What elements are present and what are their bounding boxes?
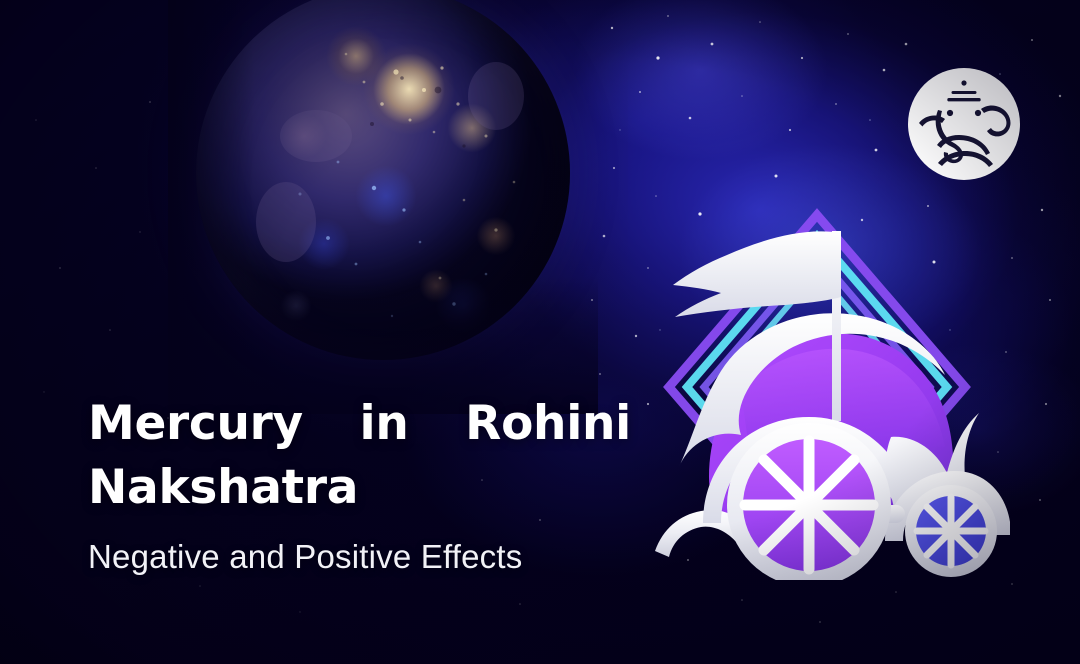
title-line-2: Nakshatra (88, 456, 668, 520)
astrology-banner: Mercury in Rohini Nakshatra Negative and… (0, 0, 1080, 664)
title-line-1: Mercury in Rohini (88, 392, 631, 456)
title-word-3: Rohini (465, 392, 631, 456)
page-title: Mercury in Rohini Nakshatra (88, 392, 668, 520)
headline-block: Mercury in Rohini Nakshatra Negative and… (88, 392, 668, 577)
page-subtitle: Negative and Positive Effects (88, 537, 668, 577)
title-word-2: in (360, 392, 409, 456)
title-word-1: Mercury (88, 392, 303, 456)
